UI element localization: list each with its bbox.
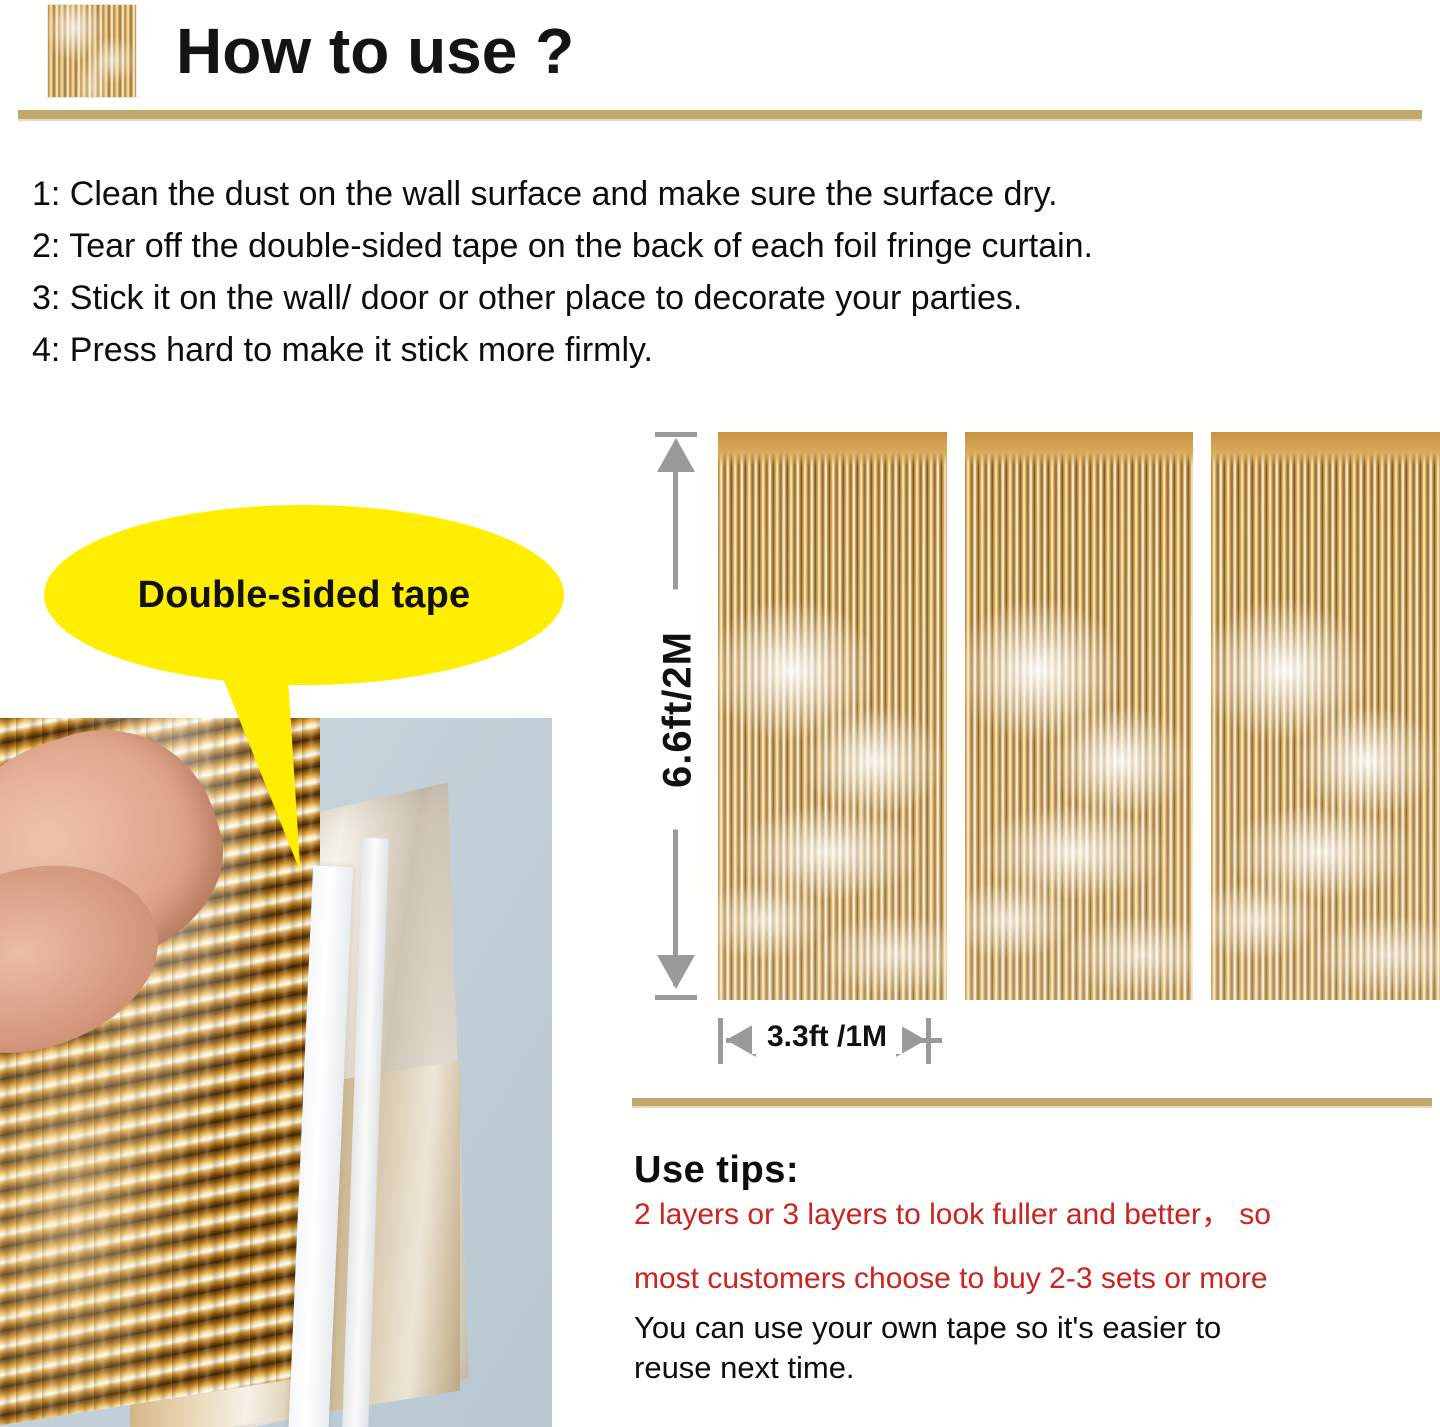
panel-fade [965, 432, 1194, 1000]
width-cap-left [718, 1018, 723, 1064]
instruction-step-3: 3: Stick it on the wall/ door or other p… [32, 272, 1422, 324]
use-tips-heading: Use tips: [634, 1148, 1440, 1192]
page-title: How to use ? [176, 6, 574, 96]
instruction-steps-list: 1: Clean the dust on the wall surface an… [32, 168, 1422, 376]
tip-black-line-1: You can use your own tape so it's easier… [634, 1308, 1440, 1348]
curtain-panel-1 [718, 432, 947, 1000]
header-section: How to use ? [0, 0, 1440, 132]
header-divider [18, 110, 1422, 121]
thumbnail-gloss [48, 5, 136, 97]
callout-bubble[interactable]: Double-sided tape [44, 505, 564, 685]
gold-fringe-curtain-thumbnail-icon [48, 5, 136, 97]
panel-fade [1211, 432, 1440, 1000]
height-label: 6.6ft/2M [652, 590, 705, 830]
instruction-step-2: 2: Tear off the double-sided tape on the… [32, 220, 1422, 272]
width-dimension-indicator: 3.3ft /1M [712, 1012, 1012, 1072]
height-dimension-indicator: 6.6ft/2M [640, 428, 710, 1004]
arrow-down-icon [657, 955, 695, 989]
curtain-size-diagram: 6.6ft/2M 3.3ft /1M [640, 420, 1440, 1020]
tip-black-line-2: reuse next time. [634, 1348, 1440, 1388]
panel-fade [718, 432, 947, 1000]
curtain-panel-2 [965, 432, 1194, 1000]
width-cap-right [926, 1018, 931, 1064]
height-cap-bottom [655, 995, 697, 1000]
curtain-panel-group [718, 432, 1440, 1000]
tips-divider [632, 1098, 1432, 1108]
tip-red-line-2: most customers choose to buy 2-3 sets or… [634, 1258, 1440, 1300]
curtain-panel-3 [1211, 432, 1440, 1000]
instruction-step-1: 1: Clean the dust on the wall surface an… [32, 168, 1422, 220]
tape-peeling-photo [0, 718, 552, 1427]
arrow-up-icon [657, 438, 695, 472]
width-label: 3.3ft /1M [752, 1020, 902, 1054]
instruction-step-4: 4: Press hard to make it stick more firm… [32, 324, 1422, 376]
callout-label: Double-sided tape [138, 574, 471, 617]
height-cap-top [655, 432, 697, 437]
tip-red-line-1: 2 layers or 3 layers to look fuller and … [634, 1194, 1440, 1236]
use-tips-section: Use tips: 2 layers or 3 layers to look f… [634, 1148, 1440, 1388]
